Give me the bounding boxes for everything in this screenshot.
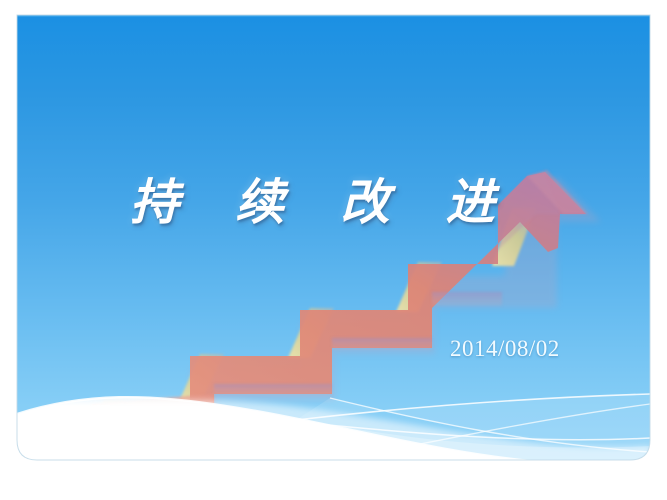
slide-frame <box>17 15 650 470</box>
slide-canvas: 持 续 改 进 2014/08/02 <box>0 0 667 500</box>
slide-artwork <box>0 0 667 500</box>
corner-shadow-1 <box>214 384 332 396</box>
corner-shadow-2 <box>332 338 432 350</box>
corner-shadow-3 <box>432 292 502 306</box>
